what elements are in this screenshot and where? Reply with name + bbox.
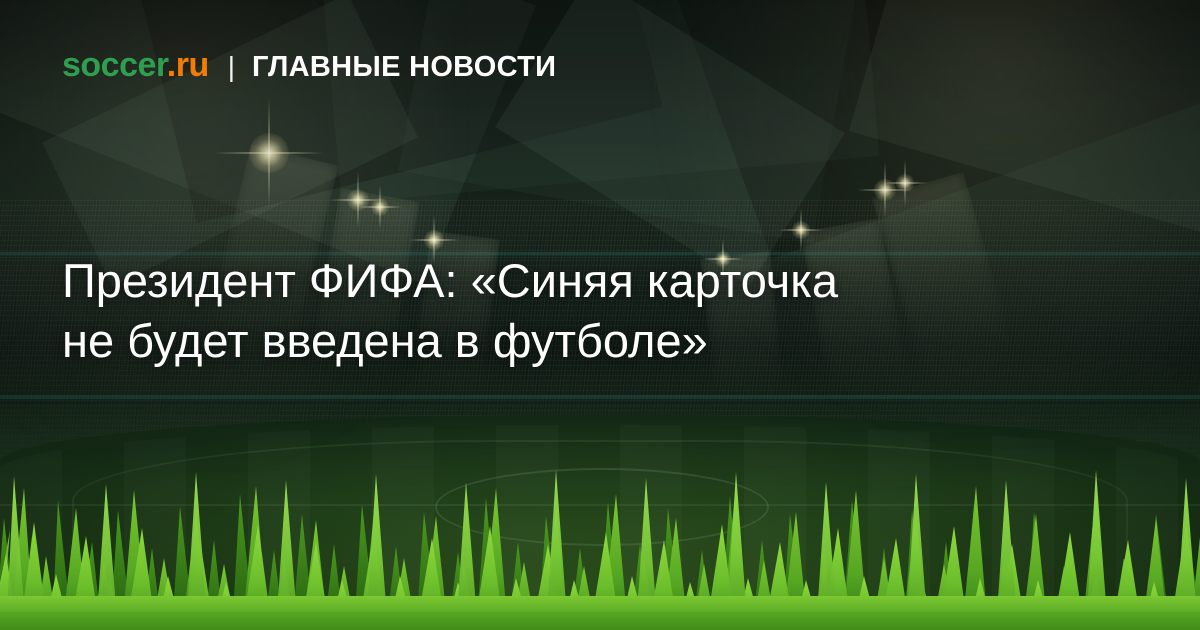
headline-line-2: не будет введена в футболе»: [62, 311, 1122, 371]
grass-foreground: [0, 470, 1200, 630]
soccer-ru-logo[interactable]: soccer.ru: [62, 48, 209, 82]
headline-line-1: Президент ФИФА: «Синяя карточка: [62, 251, 1122, 311]
header-kicker-label: ГЛАВНЫЕ НОВОСТИ: [252, 53, 556, 82]
share-card: soccer.ru | ГЛАВНЫЕ НОВОСТИ Президент ФИ…: [0, 0, 1200, 630]
header-separator: |: [228, 53, 235, 81]
logo-primary-text: soccer: [62, 46, 167, 84]
headline: Президент ФИФА: «Синяя карточка не будет…: [62, 251, 1122, 371]
brand-header: soccer.ru | ГЛАВНЫЕ НОВОСТИ: [62, 48, 556, 82]
logo-suffix-text: .ru: [167, 46, 209, 84]
